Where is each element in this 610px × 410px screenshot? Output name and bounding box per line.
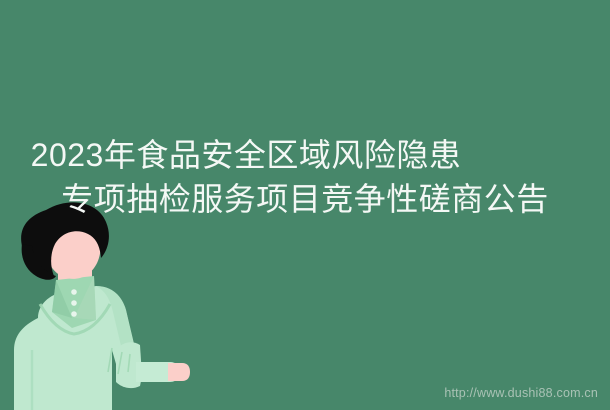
sleeve-fold-lines xyxy=(108,348,130,374)
person-illustration xyxy=(0,200,190,410)
page-title-line-1: 2023年食品安全区域风险隐患 xyxy=(0,133,610,177)
collar-button-3 xyxy=(71,311,77,317)
collar-button-1 xyxy=(71,289,77,295)
sweater-torso xyxy=(14,286,135,410)
page-title: 2023年食品安全区域风险隐患 专项抽检服务项目竞争性磋商公告 xyxy=(0,133,610,221)
watermark-url: http://www.dushi88.com.cn xyxy=(444,386,598,400)
hand xyxy=(168,363,190,381)
collar xyxy=(52,276,96,328)
collar-left-fold xyxy=(52,280,72,318)
hair-fringe xyxy=(22,244,56,280)
collar-right-fold xyxy=(74,276,96,320)
sweater-arm xyxy=(116,342,142,388)
collar-rim xyxy=(40,304,110,334)
collar-button-2 xyxy=(71,300,77,306)
promo-banner: 2023年食品安全区域风险隐患 专项抽检服务项目竞争性磋商公告 http://w… xyxy=(0,0,610,410)
sweater-shoulder-shadow xyxy=(96,286,134,350)
neck xyxy=(58,260,92,296)
face xyxy=(45,216,101,278)
page-title-line-2: 专项抽检服务项目竞争性磋商公告 xyxy=(0,177,610,221)
ear xyxy=(41,245,52,260)
sweater-forearm xyxy=(136,362,180,382)
